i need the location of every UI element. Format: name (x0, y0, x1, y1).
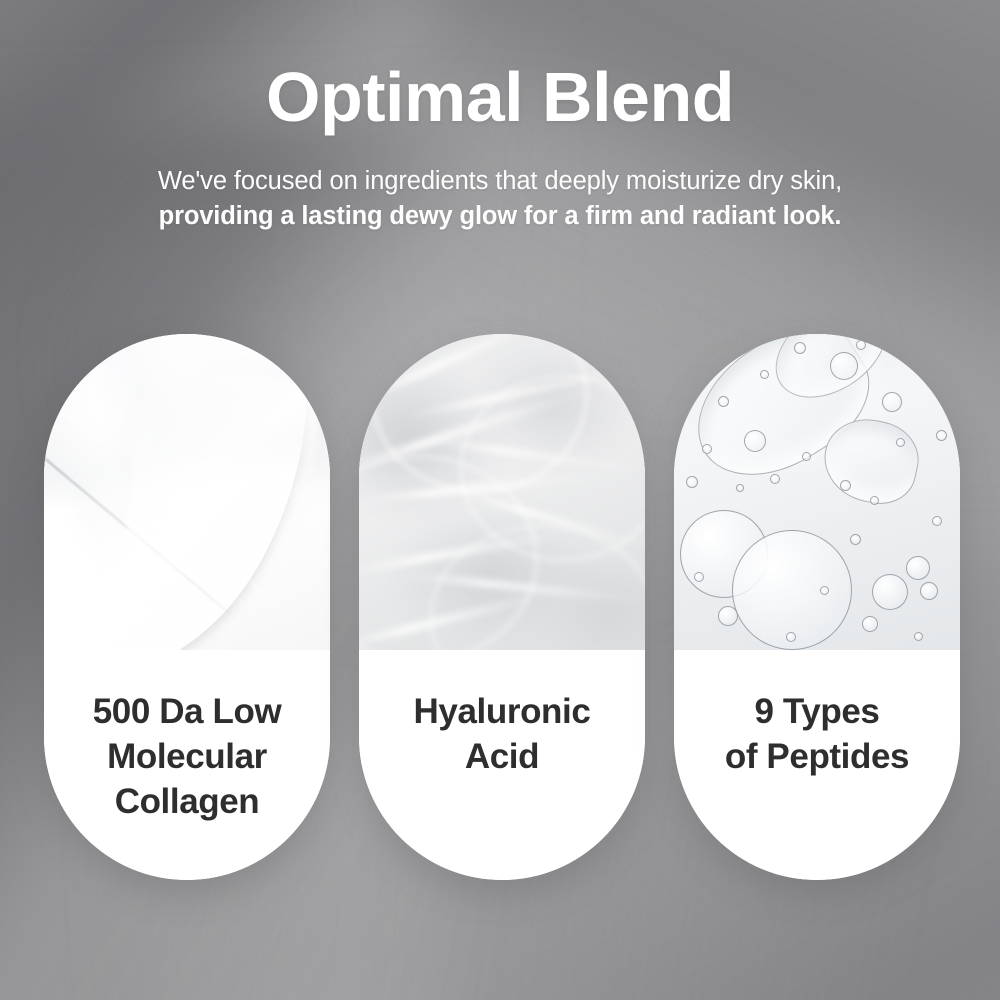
card-image-hyaluronic-acid (359, 334, 645, 650)
ingredient-card-hyaluronic-acid[interactable]: Hyaluronic Acid (359, 334, 645, 880)
card-image-peptides (674, 334, 960, 650)
card-title-line: Hyaluronic (414, 690, 591, 735)
subtitle-block: We've focused on ingredients that deeply… (0, 164, 1000, 234)
card-title-line: Acid (414, 735, 591, 780)
serum-gel-bubbles-photo (674, 334, 960, 650)
ingredient-card-list: 500 Da Low Molecular Collagen (44, 334, 960, 880)
card-caption-hyaluronic-acid: Hyaluronic Acid (359, 650, 645, 880)
card-title-hyaluronic-acid: Hyaluronic Acid (414, 690, 591, 780)
card-title-line: 9 Types (725, 690, 909, 735)
subtitle-line-1: We've focused on ingredients that deeply… (0, 164, 1000, 199)
card-caption-collagen: 500 Da Low Molecular Collagen (44, 650, 330, 880)
card-caption-peptides: 9 Types of Peptides (674, 650, 960, 880)
card-title-collagen: 500 Da Low Molecular Collagen (93, 690, 282, 824)
ingredient-card-peptides[interactable]: 9 Types of Peptides (674, 334, 960, 880)
card-image-collagen (44, 334, 330, 650)
card-title-line: Molecular (93, 735, 282, 780)
glossy-white-collagen-sheet-photo (44, 334, 330, 650)
card-title-line: Collagen (93, 780, 282, 825)
promo-banner: Optimal Blend We've focused on ingredien… (0, 0, 1000, 1000)
ingredient-card-collagen[interactable]: 500 Da Low Molecular Collagen (44, 334, 330, 880)
header-block: Optimal Blend We've focused on ingredien… (0, 62, 1000, 234)
page-title: Optimal Blend (0, 62, 1000, 132)
card-title-line: 500 Da Low (93, 690, 282, 735)
rippling-water-surface-photo (359, 334, 645, 650)
card-title-line: of Peptides (725, 735, 909, 780)
card-title-peptides: 9 Types of Peptides (725, 690, 909, 780)
subtitle-line-2: providing a lasting dewy glow for a firm… (0, 199, 1000, 234)
